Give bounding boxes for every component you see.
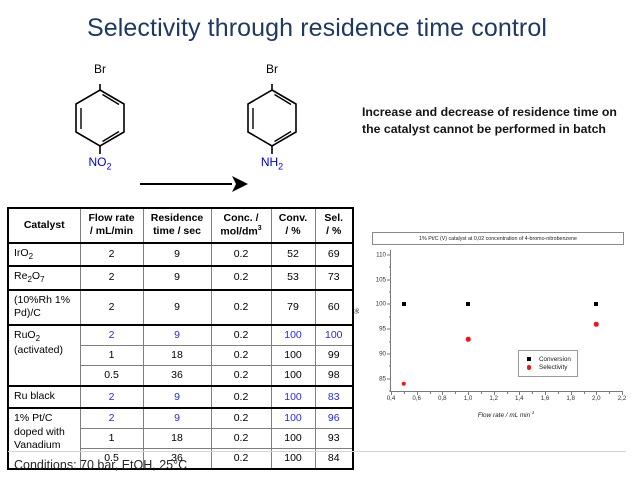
chart-data-point-selectivity — [594, 322, 599, 327]
cell-flow: 1 — [80, 346, 143, 366]
chart-title: 1% Pt/C (V) catalyst at 0,02 concentrati… — [372, 232, 624, 245]
chart-x-minor-tick — [507, 391, 508, 394]
product-br-label: Br — [212, 62, 332, 76]
cell-flow: 2 — [80, 290, 143, 325]
cell-conc: 0.2 — [211, 429, 271, 449]
legend-label: Selectivity — [539, 364, 567, 371]
cell-conc: 0.2 — [211, 243, 271, 266]
chart-y-tick-mark — [387, 353, 391, 354]
molecule-reactant: Br NO2 — [40, 62, 160, 192]
cell-residence: 9 — [143, 408, 211, 429]
chart-x-tick-mark — [545, 391, 546, 395]
chart-legend: Conversion Selectivity — [518, 350, 578, 377]
chart-y-minor-tick — [389, 341, 392, 342]
cell-conv: 53 — [271, 266, 315, 289]
chart-data-point-conversion — [594, 302, 598, 306]
results-table: Catalyst Flow rate/ mL/min Residencetime… — [7, 207, 354, 470]
chart-y-minor-tick — [389, 366, 392, 367]
molecule-product: Br NH2 — [212, 62, 332, 192]
cell-conv: 100 — [271, 386, 315, 408]
chart-x-minor-tick — [455, 391, 456, 394]
cell-sel: 100 — [315, 325, 353, 346]
chart-x-minor-tick — [584, 391, 585, 394]
chart-x-axis-label: Flow rate / mL min-1 — [390, 410, 622, 419]
chart-x-tick-mark — [494, 391, 495, 395]
results-table-container: Catalyst Flow rate/ mL/min Residencetime… — [7, 207, 352, 470]
cell-flow: 2 — [80, 243, 143, 266]
table-row: 1% Pt/C doped with Vanadium 2 9 0.2 100 … — [8, 408, 353, 429]
col-header-concentration: Conc. /mol/dm3 — [211, 208, 271, 243]
cell-conv: 79 — [271, 290, 315, 325]
cell-sel: 93 — [315, 429, 353, 449]
chart-y-minor-tick — [389, 267, 392, 268]
cell-catalyst: Re2O7 — [8, 266, 80, 289]
legend-item-conversion: Conversion — [523, 356, 571, 363]
cell-conc: 0.2 — [211, 386, 271, 408]
reactant-br-label: Br — [40, 62, 160, 76]
cell-conv: 100 — [271, 346, 315, 366]
chart-data-point-conversion — [402, 302, 406, 306]
chart-x-tick-label: 1,6 — [541, 395, 550, 402]
legend-square-marker-icon — [523, 357, 535, 361]
table-row: (10%Rh 1% Pd)/C 2 9 0.2 79 60 — [8, 290, 353, 325]
cell-catalyst: IrO2 — [8, 243, 80, 266]
cell-flow: 1 — [80, 429, 143, 449]
cell-residence: 18 — [143, 429, 211, 449]
chart-x-tick-mark — [417, 391, 418, 395]
chart-data-point-selectivity — [466, 337, 471, 342]
chart-x-tick-label: 2,2 — [618, 395, 627, 402]
cell-sel: 99 — [315, 346, 353, 366]
cell-sel: 83 — [315, 386, 353, 408]
chart-y-tick-mark — [387, 378, 391, 379]
cell-flow: 2 — [80, 408, 143, 429]
cell-conv: 100 — [271, 325, 315, 346]
cell-flow: 0.5 — [80, 366, 143, 387]
cell-residence: 9 — [143, 266, 211, 289]
cell-flow: 2 — [80, 325, 143, 346]
cell-residence: 9 — [143, 243, 211, 266]
chart-y-tick-mark — [387, 304, 391, 305]
cell-residence: 9 — [143, 325, 211, 346]
chart-x-tick-mark — [519, 391, 520, 395]
table-row: Re2O7 2 9 0.2 53 73 — [8, 266, 353, 289]
cell-sel: 60 — [315, 290, 353, 325]
chart-x-tick-label: 1,0 — [464, 395, 473, 402]
chart-x-minor-tick — [430, 391, 431, 394]
cell-catalyst: Ru black — [8, 386, 80, 408]
chart-x-minor-tick — [532, 391, 533, 394]
chart-x-tick-mark — [391, 391, 392, 395]
cell-flow: 2 — [80, 266, 143, 289]
cell-conv: 52 — [271, 243, 315, 266]
table-row: RuO2(activated) 2 9 0.2 100 100 — [8, 325, 353, 346]
table-row: IrO2 2 9 0.2 52 69 — [8, 243, 353, 266]
chart-y-minor-tick — [389, 316, 392, 317]
cell-conv: 100 — [271, 408, 315, 429]
chart-x-tick-label: 1,8 — [566, 395, 575, 402]
chart-y-tick-mark — [387, 279, 391, 280]
slide-canvas: Selectivity through residence time contr… — [0, 0, 634, 484]
chart-x-tick-label: 0,4 — [387, 395, 396, 402]
callout-text: Increase and decrease of residence time … — [362, 104, 626, 139]
chart-x-tick-label: 1,4 — [515, 395, 524, 402]
cell-conv: 100 — [271, 429, 315, 449]
cell-conv: 100 — [271, 366, 315, 387]
cell-conc: 0.2 — [211, 366, 271, 387]
cell-conc: 0.2 — [211, 325, 271, 346]
chart-x-tick-mark — [622, 391, 623, 395]
chart-x-tick-label: 1,2 — [489, 395, 498, 402]
cell-residence: 9 — [143, 386, 211, 408]
cell-conc: 0.2 — [211, 408, 271, 429]
chart-plot-area: 1101051009590850,40,60,81,01,21,41,61,82… — [390, 250, 622, 392]
chart-x-tick-mark — [571, 391, 572, 395]
cell-conc: 0.2 — [211, 266, 271, 289]
table-header-row: Catalyst Flow rate/ mL/min Residencetime… — [8, 208, 353, 243]
col-header-residence-time: Residencetime / sec — [143, 208, 211, 243]
benzene-ring-product — [241, 84, 303, 158]
chart-x-tick-mark — [468, 391, 469, 395]
footer-divider — [8, 451, 626, 452]
cell-residence: 36 — [143, 366, 211, 387]
col-header-flow-rate: Flow rate/ mL/min — [80, 208, 143, 243]
cell-sel: 98 — [315, 366, 353, 387]
chart-data-point-conversion — [466, 302, 470, 306]
product-nh2-label: NH2 — [212, 155, 332, 171]
legend-item-selectivity: Selectivity — [523, 364, 571, 371]
cell-residence: 9 — [143, 290, 211, 325]
legend-circle-marker-icon — [523, 365, 535, 370]
benzene-ring-reactant — [69, 84, 131, 158]
chart-y-minor-tick — [389, 292, 392, 293]
chart-x-tick-label: 0,6 — [412, 395, 421, 402]
chart-x-tick-label: 2,0 — [592, 395, 601, 402]
chart-data-point-selectivity — [402, 381, 407, 386]
footer-conditions: Conditions: 70 bar, EtOH, 25°C — [14, 458, 187, 472]
chart-y-axis-label: % — [354, 308, 361, 314]
chart-x-minor-tick — [481, 391, 482, 394]
chart-x-tick-mark — [596, 391, 597, 395]
chart-x-minor-tick — [558, 391, 559, 394]
cell-sel: 73 — [315, 266, 353, 289]
chart-x-minor-tick — [404, 391, 405, 394]
cell-conc: 0.2 — [211, 290, 271, 325]
cell-catalyst: RuO2(activated) — [8, 325, 80, 386]
col-header-catalyst: Catalyst — [8, 208, 80, 243]
col-header-selectivity: Sel./ % — [315, 208, 353, 243]
chart-x-tick-label: 0,8 — [438, 395, 447, 402]
cell-catalyst: (10%Rh 1% Pd)/C — [8, 290, 80, 325]
chart-y-tick-mark — [387, 329, 391, 330]
chart-y-tick-mark — [387, 254, 391, 255]
chart-x-tick-mark — [442, 391, 443, 395]
scatter-chart: 1% Pt/C (V) catalyst at 0,02 concentrati… — [358, 228, 630, 428]
cell-residence: 18 — [143, 346, 211, 366]
reactant-no2-label: NO2 — [40, 155, 160, 171]
cell-sel: 96 — [315, 408, 353, 429]
cell-flow: 2 — [80, 386, 143, 408]
cell-conc: 0.2 — [211, 346, 271, 366]
page-title: Selectivity through residence time contr… — [0, 14, 634, 43]
reaction-scheme: Br NO2 Br — [0, 62, 350, 192]
legend-label: Conversion — [539, 356, 571, 363]
table-row: Ru black 2 9 0.2 100 83 — [8, 386, 353, 408]
col-header-conversion: Conv./ % — [271, 208, 315, 243]
chart-x-minor-tick — [609, 391, 610, 394]
cell-sel: 69 — [315, 243, 353, 266]
